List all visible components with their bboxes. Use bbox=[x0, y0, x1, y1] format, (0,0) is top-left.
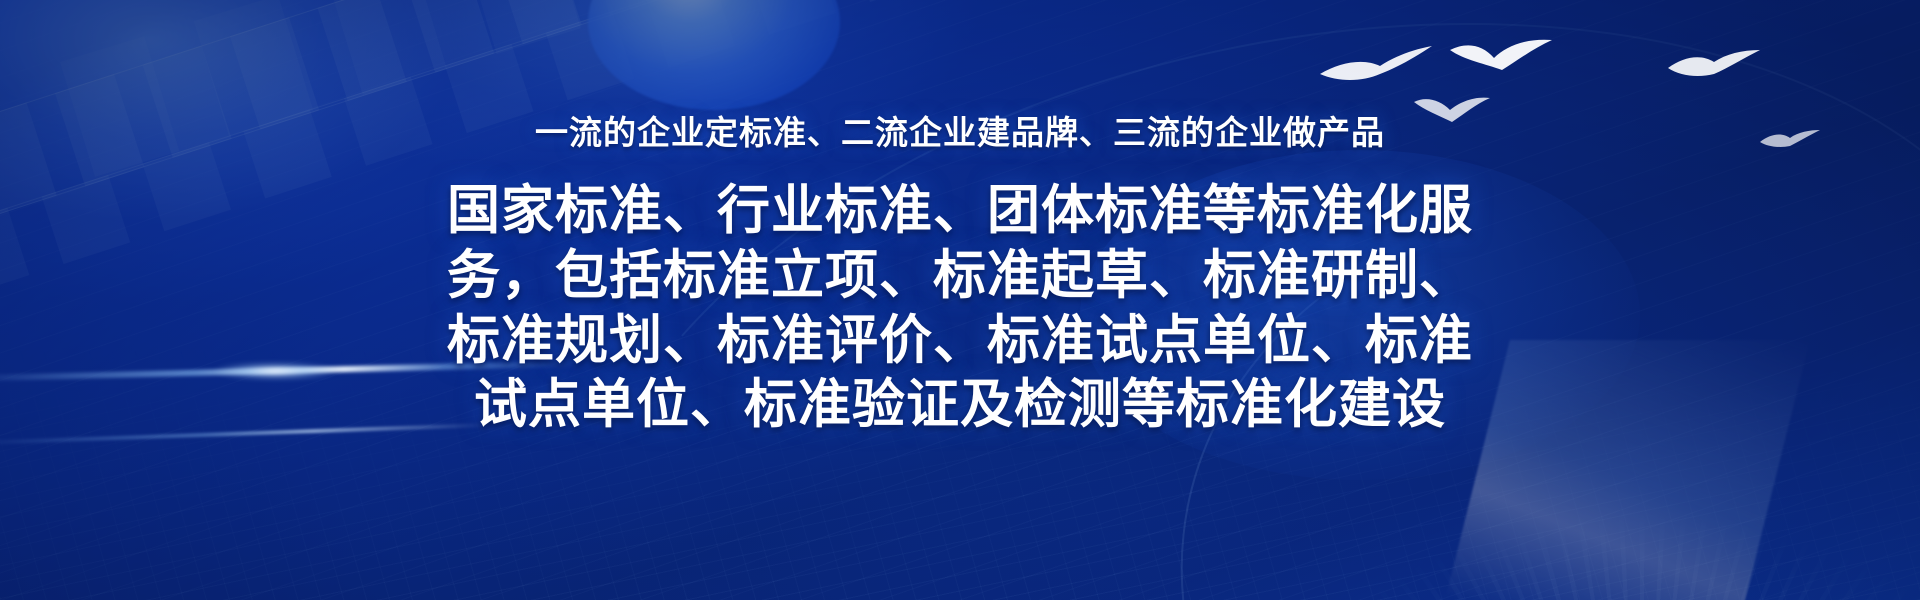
promo-banner: 一流的企业定标准、二流企业建品牌、三流的企业做产品 国家标准、行业标准、团体标准… bbox=[0, 0, 1920, 600]
banner-body-line-2: 务，包括标准立项、标准起草、标准研制、 bbox=[440, 244, 1480, 309]
banner-text-block: 一流的企业定标准、二流企业建品牌、三流的企业做产品 国家标准、行业标准、团体标准… bbox=[0, 0, 1920, 600]
banner-body-line-1: 国家标准、行业标准、团体标准等标准化服 bbox=[440, 179, 1480, 244]
banner-headline: 一流的企业定标准、二流企业建品牌、三流的企业做产品 bbox=[535, 112, 1385, 153]
banner-body-text: 国家标准、行业标准、团体标准等标准化服 务，包括标准立项、标准起草、标准研制、 … bbox=[440, 179, 1480, 438]
banner-body-line-4: 试点单位、标准验证及检测等标准化建设 bbox=[440, 373, 1480, 438]
banner-body-line-3: 标准规划、标准评价、标准试点单位、标准 bbox=[440, 309, 1480, 374]
